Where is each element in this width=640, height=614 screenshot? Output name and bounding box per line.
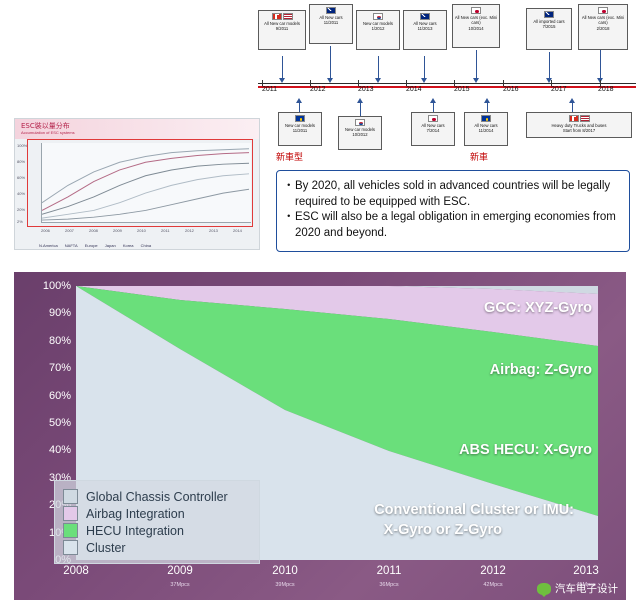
timeline-cn-label-right: 新車 [470,150,488,163]
mini-legend-item: Korea [123,243,134,248]
flag-group [527,10,571,19]
timeline-year-label: 2017 [551,86,567,93]
timeline-box-date: 2/2018 [579,26,627,31]
legend-label: Airbag Integration [86,507,185,521]
flag-group [404,12,446,21]
timeline-box-date: 11/2011 [279,128,321,133]
timeline-box-above-5: All imported cars 7/2015 [526,8,572,50]
timeline-box-below-2: All New cars 7/2014 [411,112,455,146]
timeline-connector [330,46,331,80]
timeline-connector [378,56,379,80]
chart-annotation-airbag: Airbag: Z-Gyro [490,362,592,378]
mini-y-tick: 80% [17,159,25,164]
chart-x-sublabel: 37Mpcs [170,582,189,588]
callout-bullet: ESC will also be a legal obligation in e… [295,210,619,241]
mini-legend-item: China [141,243,151,248]
chart-annotation-gcc: GCC: XYZ-Gyro [484,300,592,316]
mini-x-tick: 2013 [209,228,218,233]
timeline-year-label: 2011 [262,86,277,93]
chart-y-tick: 80% [49,335,71,347]
chart-x-sublabel: 36Mpcs [379,582,398,588]
mini-chart-header: ESC裝以量分布 Accumulation of ESC systems [15,119,259,139]
chart-y-tick: 50% [49,417,71,429]
flag-eu-icon [481,115,491,122]
flag-korea-icon [355,119,365,126]
legend-item-hecu-integration: HECU Integration [63,523,251,538]
chart-y-tick: 70% [49,362,71,374]
wechat-watermark: 汽车电子设计 [537,581,618,596]
timeline-box-above-1: All New cars 11/2011 [309,4,353,44]
chart-x-tick: 2011 [377,565,402,577]
chart-x-tick: 2009 [167,565,193,577]
timeline-box-date: 7/2014 [412,128,454,133]
chart-y-tick: 90% [49,307,71,319]
chart-y-tick: 40% [49,444,71,456]
timeline-box-text: All New cars (exc. Mini cars) [453,15,499,26]
timeline-box-above-0: All New car models 9/2011 [258,10,306,50]
timeline-connector [360,102,361,116]
mini-legend-item: Japan [105,243,116,248]
legend-item-airbag-integration: Airbag Integration [63,506,251,521]
mini-legend-item: Europe [85,243,98,248]
flag-group [259,12,305,21]
gyro-adoption-area-chart: 100% 90% 80% 70% 60% 50% 40% 30% 20% 10%… [14,272,626,600]
mini-x-tick: 2009 [113,228,122,233]
legend-swatch-icon [63,523,78,538]
chart-annotation-abs-hecu: ABS HECU: X-Gyro [459,442,592,458]
timeline-year-label: 2014 [406,86,422,93]
esc-penetration-mini-chart: ESC裝以量分布 Accumulation of ESC systems 100… [14,118,260,250]
timeline-box-above-6: All New cars (exc. Mini cars) 2/2018 [578,4,628,50]
timeline-box-text: All New cars (exc. Mini cars) [579,15,627,26]
chart-x-tick: 2013 [573,565,599,577]
mini-x-tick: 2007 [65,228,74,233]
timeline-cn-label-left: 新車型 [276,150,303,163]
legend-item-global-chassis-controller: Global Chassis Controller [63,489,251,504]
legend-label: HECU Integration [86,524,184,538]
timeline-box-date: 11/2011 [310,20,352,25]
mini-y-tick: 20% [17,207,25,212]
timeline-box-date: Start from 8/2017 [527,128,631,133]
callout-bullet: By 2020, all vehicles sold in advanced c… [295,179,619,210]
timeline-connector [299,102,300,112]
legend-swatch-icon [63,489,78,504]
timeline-connector [549,52,550,80]
legend-swatch-icon [63,540,78,555]
mini-y-tick: 2% [17,219,23,224]
callout-box: By 2020, all vehicles sold in advanced c… [276,170,630,252]
timeline-connector [282,56,283,80]
flag-group [357,12,399,21]
chart-y-tick: 60% [49,390,71,402]
timeline-connector [476,50,477,80]
mini-chart-subtitle: Accumulation of ESC systems [21,130,75,135]
flag-usa-icon [580,115,590,122]
flag-japan-icon [471,7,481,14]
chart-x-sublabel: 39Mpcs [275,582,294,588]
legend-swatch-icon [63,506,78,521]
timeline-box-below-1: New car models 10/2012 [338,116,382,150]
mini-chart-highlight-box [27,139,253,227]
legend-label: Global Chassis Controller [86,490,228,504]
mini-x-tick: 2010 [137,228,146,233]
chart-legend: Global Chassis Controller Airbag Integra… [54,480,260,564]
timeline-year-label: 2015 [454,86,470,93]
flag-canada-icon [272,13,282,20]
wechat-icon [537,583,551,595]
flag-group [527,114,631,123]
timeline-box-date: 9/2011 [259,26,305,31]
timeline-box-date: 10/2012 [339,132,381,137]
mini-legend-item: N.America [39,243,58,248]
flag-group [579,6,627,15]
flag-japan-icon [598,7,608,14]
flag-australia-icon [544,11,554,18]
timeline-year-label: 2013 [358,86,374,93]
timeline-connector [487,102,488,112]
timeline-box-below-4: Heavy duty Trucks and buses Start from 8… [526,112,632,138]
flag-korea-icon [373,13,383,20]
timeline: All New car models 9/2011 All New cars 1… [258,2,638,110]
timeline-box-date: 11/2014 [465,128,507,133]
timeline-box-above-3: All New cars 11/2013 [403,10,447,50]
chart-x-tick: 2008 [63,565,89,577]
chart-x-tick: 2010 [272,565,298,577]
timeline-axis-line [258,83,636,84]
flag-group [310,6,352,15]
mini-y-tick: 40% [17,191,25,196]
mini-x-tick: 2008 [89,228,98,233]
timeline-year-label: 2012 [310,86,326,93]
mini-x-tick: 2011 [161,228,170,233]
flag-group [279,114,321,123]
mini-y-tick: 60% [17,175,25,180]
chart-annotation-cluster-2: X-Gyro or Z-Gyro [384,522,502,538]
flag-group [412,114,454,123]
flag-canada-icon [569,115,579,122]
flag-eu-icon [295,115,305,122]
legend-item-cluster: Cluster [63,540,251,555]
timeline-box-date: 7/2015 [527,24,571,29]
wechat-label: 汽车电子设计 [555,581,618,596]
chart-annotation-cluster-1: Conventional Cluster or IMU: [374,502,574,518]
timeline-box-above-4: All New cars (exc. Mini cars) 10/2014 [452,4,500,48]
timeline-connector [433,102,434,112]
timeline-connector [424,56,425,80]
timeline-box-above-2: New car models 1/2012 [356,10,400,50]
chart-y-tick: 100% [43,280,71,292]
timeline-box-below-3: All New cars 11/2014 [464,112,508,146]
timeline-box-date: 10/2014 [453,26,499,31]
flag-japan-icon [428,115,438,122]
callout-list: By 2020, all vehicles sold in advanced c… [277,171,629,241]
mini-y-tick: 100% [17,143,27,148]
timeline-box-below-0: New car models 11/2011 [278,112,322,146]
mini-x-tick: 2006 [41,228,50,233]
timeline-year-label: 2018 [598,86,614,93]
timeline-box-date: 11/2013 [404,26,446,31]
flag-australia-icon [326,7,336,14]
mini-chart-legend: N.America NAFTA Europe Japan Korea China [39,243,157,248]
mini-x-tick: 2012 [185,228,194,233]
flag-group [339,118,381,127]
timeline-connector [600,50,601,80]
flag-group [453,6,499,15]
chart-x-sublabel: 42Mpcs [483,582,502,588]
chart-x-tick: 2012 [480,565,506,577]
flag-australia-icon [420,13,430,20]
mini-x-tick: 2014 [233,228,242,233]
legend-label: Cluster [86,541,126,555]
timeline-year-label: 2016 [503,86,519,93]
flag-group [465,114,507,123]
mini-legend-item: NAFTA [65,243,78,248]
flag-usa-icon [283,13,293,20]
timeline-box-date: 1/2012 [357,26,399,31]
timeline-connector [572,102,573,112]
